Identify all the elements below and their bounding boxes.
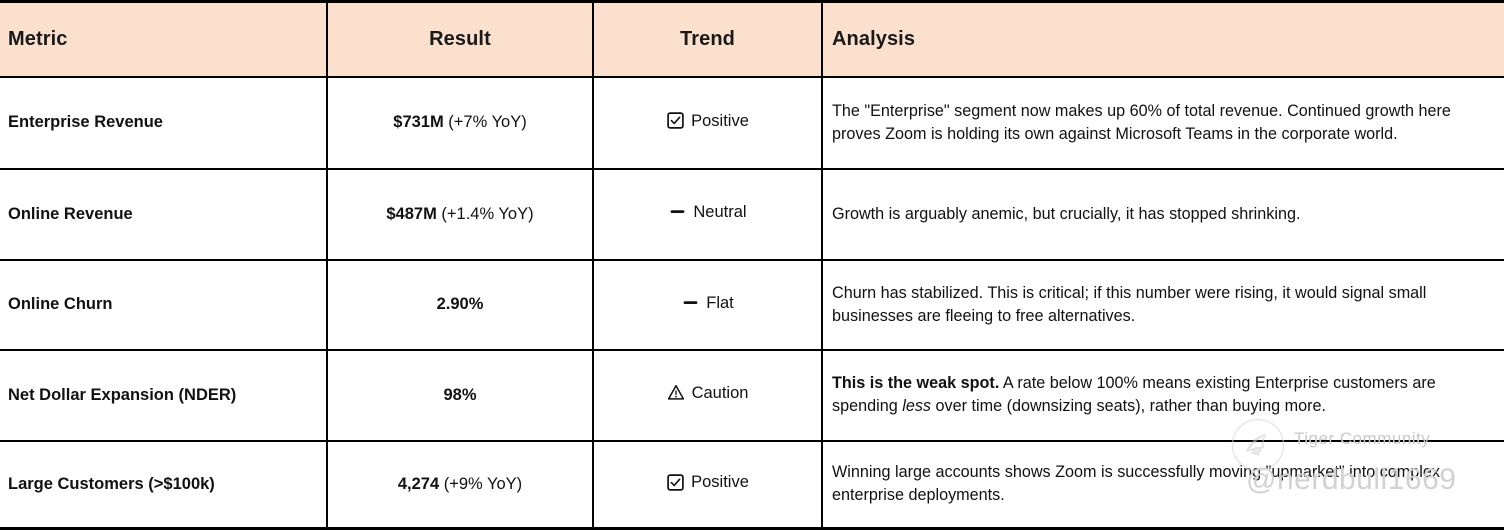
- trend-indicator: Positive: [666, 473, 749, 491]
- cell-result: 4,274 (+9% YoY): [327, 441, 593, 529]
- trend-label: Caution: [692, 385, 749, 402]
- trend-label: Flat: [706, 295, 734, 312]
- table-row: Enterprise Revenue $731M (+7% YoY) Posit…: [0, 77, 1504, 169]
- column-header-result: Result: [327, 2, 593, 77]
- analysis-text: The "Enterprise" segment now makes up 60…: [832, 102, 1451, 143]
- warning-triangle-icon: [667, 384, 685, 402]
- cell-analysis: Growth is arguably anemic, but crucially…: [822, 169, 1504, 260]
- dash-icon: [668, 203, 686, 221]
- trend-indicator: Neutral: [668, 203, 746, 221]
- column-header-trend: Trend: [593, 2, 822, 77]
- table-row: Net Dollar Expansion (NDER) 98% Caution …: [0, 350, 1504, 441]
- cell-trend: Neutral: [593, 169, 822, 260]
- cell-result: $487M (+1.4% YoY): [327, 169, 593, 260]
- cell-metric: Enterprise Revenue: [0, 77, 327, 169]
- analysis-text: Winning large accounts shows Zoom is suc…: [832, 463, 1440, 504]
- cell-analysis: The "Enterprise" segment now makes up 60…: [822, 77, 1504, 169]
- result-value: $487M: [386, 205, 436, 223]
- table-header: Metric Result Trend Analysis: [0, 2, 1504, 77]
- table-row: Online Churn 2.90% Flat Churn has stabil…: [0, 260, 1504, 350]
- result-value: $731M: [393, 113, 443, 131]
- result-value: 98%: [443, 386, 476, 404]
- table-row: Online Revenue $487M (+1.4% YoY) Neutral…: [0, 169, 1504, 260]
- trend-label: Neutral: [693, 204, 746, 221]
- cell-analysis: Winning large accounts shows Zoom is suc…: [822, 441, 1504, 529]
- result-value: 4,274: [398, 475, 439, 493]
- checkbox-checked-icon: [666, 111, 684, 129]
- cell-result: 98%: [327, 350, 593, 441]
- trend-indicator: Flat: [681, 293, 734, 311]
- result-delta: (+7% YoY): [444, 113, 527, 131]
- analysis-emphasis: less: [902, 397, 931, 415]
- checkbox-checked-icon: [666, 473, 684, 491]
- trend-indicator: Caution: [667, 384, 749, 402]
- analysis-text: Churn has stabilized. This is critical; …: [832, 284, 1426, 325]
- cell-metric: Large Customers (>$100k): [0, 441, 327, 529]
- cell-analysis: This is the weak spot. A rate below 100%…: [822, 350, 1504, 441]
- trend-indicator: Positive: [666, 111, 749, 129]
- analysis-text: Growth is arguably anemic, but crucially…: [832, 205, 1300, 223]
- cell-result: $731M (+7% YoY): [327, 77, 593, 169]
- analysis-text-part2: over time (downsizing seats), rather tha…: [931, 397, 1326, 415]
- trend-label: Positive: [691, 474, 749, 491]
- trend-label: Positive: [691, 113, 749, 130]
- dash-icon: [681, 293, 699, 311]
- analysis-lead-bold: This is the weak spot.: [832, 374, 999, 392]
- cell-trend: Flat: [593, 260, 822, 350]
- result-delta: (+9% YoY): [439, 475, 522, 493]
- cell-trend: Positive: [593, 441, 822, 529]
- cell-metric: Net Dollar Expansion (NDER): [0, 350, 327, 441]
- cell-metric: Online Churn: [0, 260, 327, 350]
- cell-analysis: Churn has stabilized. This is critical; …: [822, 260, 1504, 350]
- table-row: Large Customers (>$100k) 4,274 (+9% YoY)…: [0, 441, 1504, 529]
- result-delta: (+1.4% YoY): [437, 205, 534, 223]
- metrics-table-container: Metric Result Trend Analysis Enterprise …: [0, 0, 1504, 530]
- column-header-metric: Metric: [0, 2, 327, 77]
- cell-metric: Online Revenue: [0, 169, 327, 260]
- table-body: Enterprise Revenue $731M (+7% YoY) Posit…: [0, 77, 1504, 529]
- column-header-analysis: Analysis: [822, 2, 1504, 77]
- cell-result: 2.90%: [327, 260, 593, 350]
- cell-trend: Positive: [593, 77, 822, 169]
- metrics-table: Metric Result Trend Analysis Enterprise …: [0, 0, 1504, 530]
- header-row: Metric Result Trend Analysis: [0, 2, 1504, 77]
- cell-trend: Caution: [593, 350, 822, 441]
- result-value: 2.90%: [437, 295, 484, 313]
